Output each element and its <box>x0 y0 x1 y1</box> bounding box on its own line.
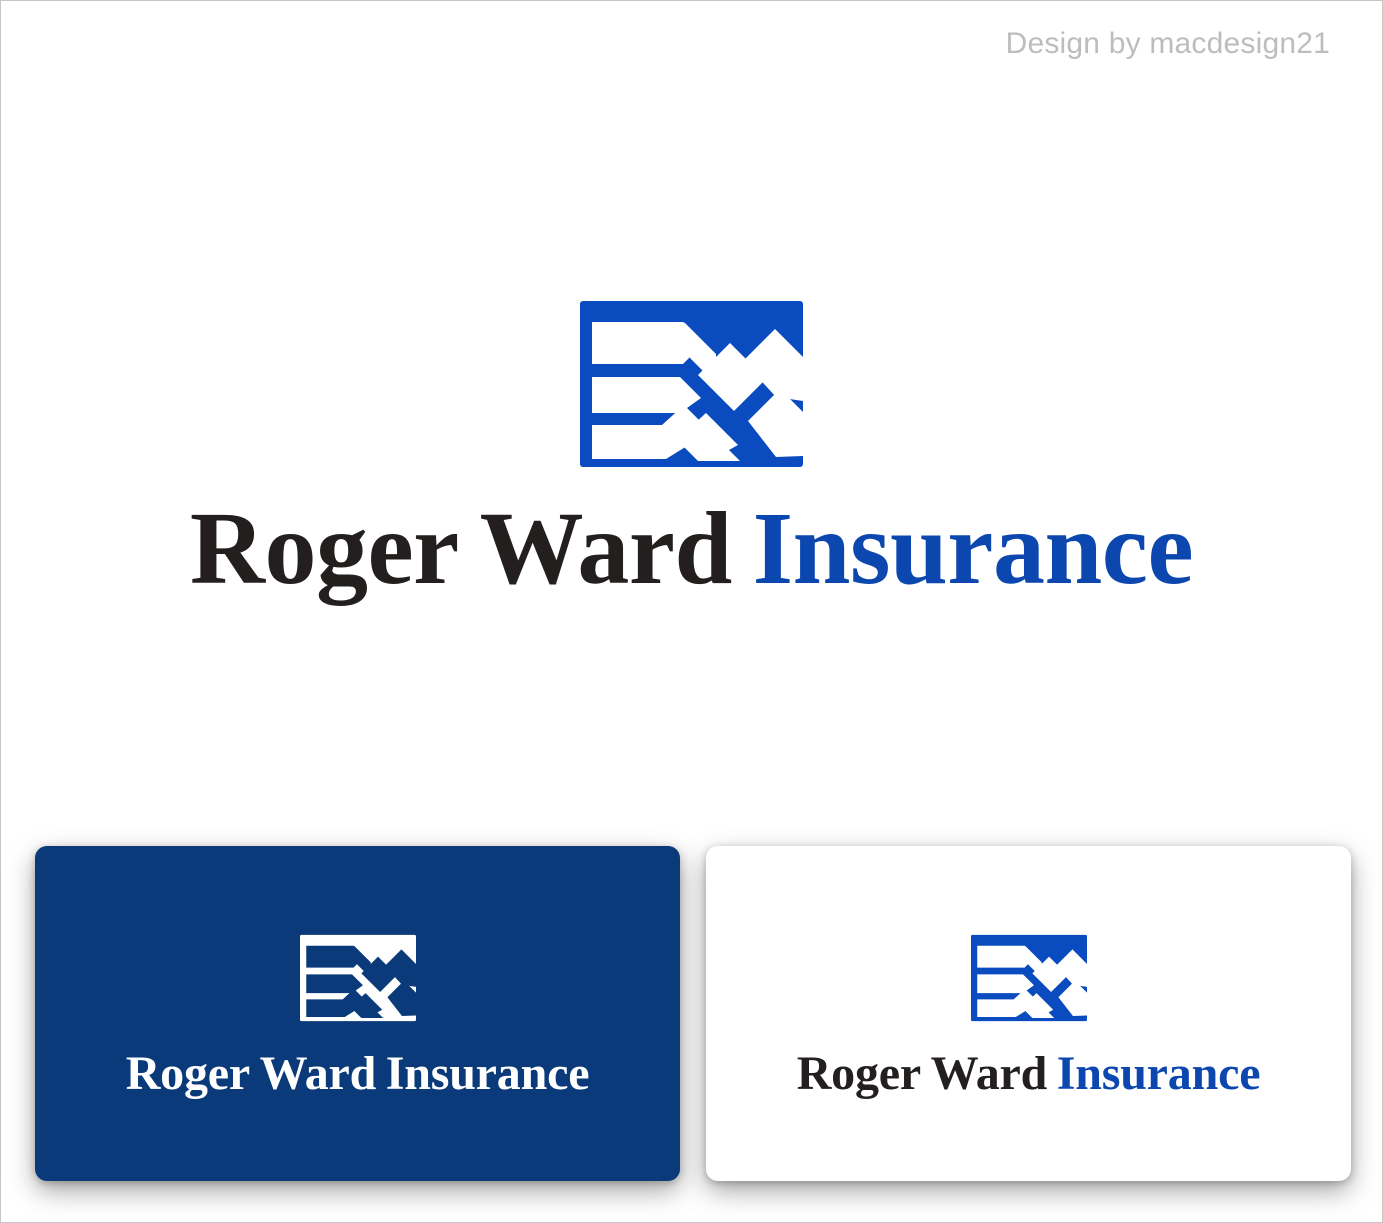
designer-credit: Design by macdesign21 <box>1006 27 1330 61</box>
logo-variant-cards: RogerWardInsurance <box>35 846 1351 1181</box>
card-dark-word-ward: Ward <box>260 1047 377 1100</box>
wordmark-word-roger: Roger <box>190 491 459 606</box>
logo-card-light-variant[interactable]: RogerWardInsurance <box>706 846 1351 1181</box>
card-dark-word-roger: Roger <box>126 1047 250 1100</box>
rw-monogram-icon-reversed <box>300 933 416 1023</box>
card-dark-word-insurance: Insurance <box>386 1047 590 1100</box>
logo-card-dark-variant[interactable]: RogerWardInsurance <box>35 846 680 1181</box>
card-light-word-insurance: Insurance <box>1057 1047 1261 1100</box>
card-light-mark-wrap <box>971 933 1087 1028</box>
wordmark-word-insurance: Insurance <box>753 491 1193 606</box>
primary-logo-lockup: RogerWardInsurance <box>1 301 1382 601</box>
card-light-word-roger: Roger <box>797 1047 921 1100</box>
card-dark-mark-wrap <box>300 933 416 1028</box>
wordmark-word-ward: Ward <box>480 491 732 606</box>
logo-presentation-canvas: Design by macdesign21 <box>0 0 1383 1223</box>
card-light-word-ward: Ward <box>931 1047 1048 1100</box>
primary-wordmark: RogerWardInsurance <box>190 497 1193 601</box>
rw-monogram-icon <box>580 301 803 467</box>
card-dark-wordmark: RogerWardInsurance <box>126 1050 590 1098</box>
card-light-wordmark: RogerWardInsurance <box>797 1050 1261 1098</box>
rw-monogram-icon-small <box>971 933 1087 1023</box>
